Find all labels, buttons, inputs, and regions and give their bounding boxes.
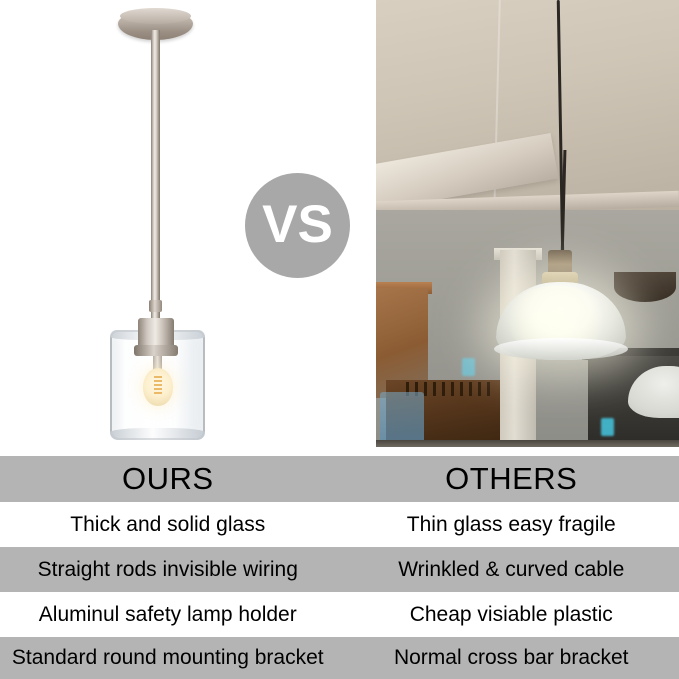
teal-object-2 — [601, 418, 614, 436]
comparison-table: OURS OTHERS Thick and solid glass Thin g… — [0, 450, 679, 679]
vs-badge: VS — [245, 173, 350, 278]
row-0-others: Thin glass easy fragile — [340, 502, 679, 547]
shade-bottom-rim — [110, 428, 205, 440]
row-2-ours: Aluminul safety lamp holder — [0, 592, 340, 637]
others-product-photo — [376, 0, 679, 447]
row-3-ours: Standard round mounting bracket — [0, 637, 340, 679]
comparison-infographic: VS OURS OTHERS Thick and solid glass Thi… — [0, 0, 679, 679]
row-1-others: Wrinkled & curved cable — [340, 547, 679, 592]
table-row: Standard round mounting bracket Normal c… — [0, 637, 679, 679]
rod-joint — [149, 300, 162, 312]
row-2-others: Cheap visiable plastic — [340, 592, 679, 637]
table-row: Straight rods invisible wiring Wrinkled … — [0, 547, 679, 592]
vs-label: VS — [262, 198, 333, 251]
row-1-ours: Straight rods invisible wiring — [0, 547, 340, 592]
table-row: Aluminul safety lamp holder Cheap visiab… — [0, 592, 679, 637]
table-header-row: OURS OTHERS — [0, 456, 679, 502]
photo-comparison-area: VS — [0, 0, 679, 450]
bottles — [380, 392, 424, 447]
row-0-ours: Thick and solid glass — [0, 502, 340, 547]
canopy-highlight — [120, 8, 191, 24]
dome-shade-lip — [494, 338, 628, 360]
header-ours: OURS — [0, 456, 340, 502]
header-others: OTHERS — [340, 456, 679, 502]
lamp-holder-ring — [134, 345, 178, 356]
bulb-filament — [154, 376, 162, 396]
row-3-others: Normal cross bar bracket — [340, 637, 679, 679]
table-row: Thick and solid glass Thin glass easy fr… — [0, 502, 679, 547]
teal-object-1 — [462, 358, 475, 376]
dark-ceiling-fixture — [614, 272, 676, 302]
photo-bottom-edge — [376, 440, 679, 447]
downrod — [151, 30, 160, 330]
